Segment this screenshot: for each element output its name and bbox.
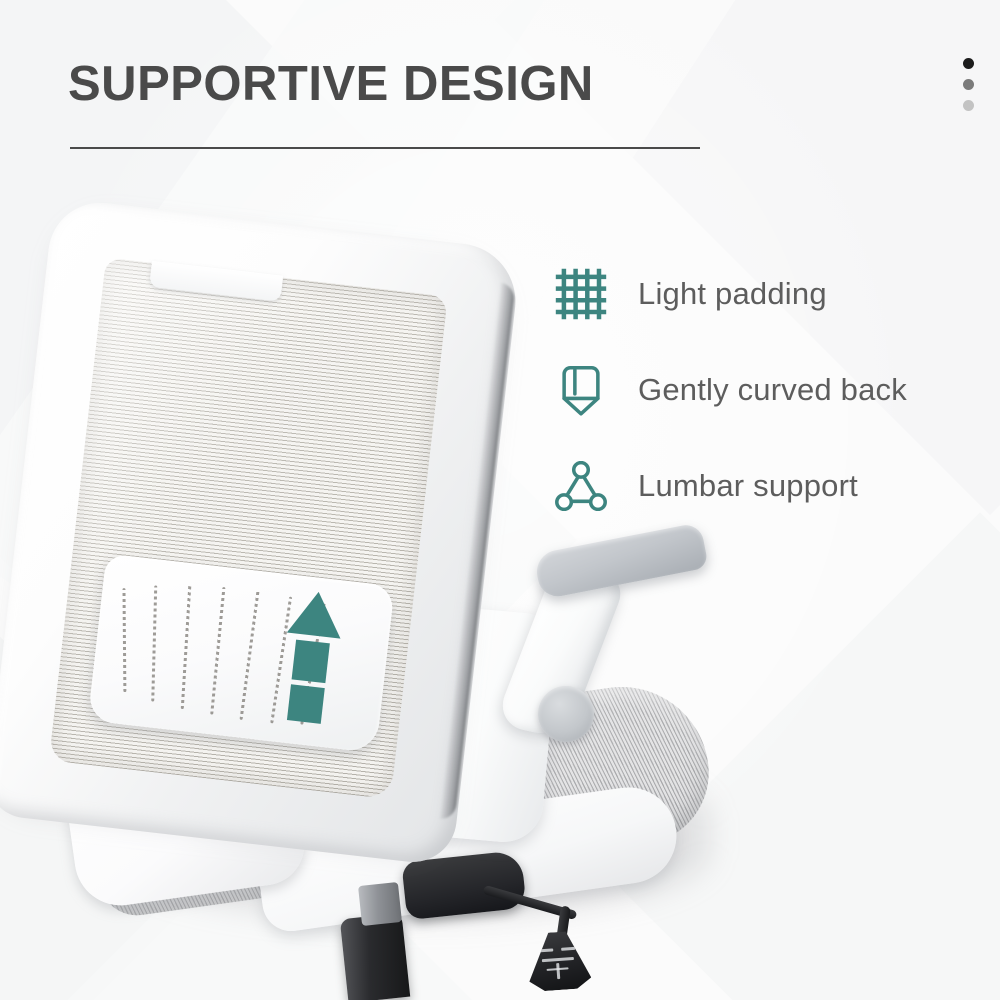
triangle-nodes-icon (548, 453, 614, 519)
feature-label: Light padding (638, 276, 827, 312)
vent-slot (122, 588, 126, 692)
feature-item-gently-curved-back: Gently curved back (548, 342, 907, 438)
armrest-pivot-hub[interactable] (538, 686, 594, 742)
vent-slot (210, 587, 225, 715)
vent-slot (181, 585, 192, 709)
lever-marking (556, 963, 560, 979)
pencil-icon (548, 357, 614, 423)
gas-lift-sleeve (358, 882, 402, 926)
vent-slot (151, 586, 157, 702)
lever-marking (542, 957, 574, 962)
vent-slot (240, 591, 260, 720)
lever-marking (561, 947, 575, 951)
product-feature-banner: SUPPORTIVE DESIGN (0, 0, 1000, 1000)
feature-item-light-padding: Light padding (548, 246, 907, 342)
gas-lift-cylinder (340, 913, 410, 1000)
lever-marking (539, 948, 553, 952)
chair-backrest (0, 197, 522, 866)
indicator-dot-2 (963, 79, 974, 90)
feature-label: Gently curved back (638, 372, 907, 408)
lumbar-support-panel (88, 554, 395, 754)
indicator-dot-3 (963, 100, 974, 111)
mesh-grid-icon (548, 261, 614, 327)
indicator-dot-1 (963, 58, 974, 69)
feature-item-lumbar-support: Lumbar support (548, 438, 907, 534)
page-title: SUPPORTIVE DESIGN (68, 56, 594, 112)
feature-list: Light padding Gently curved back (548, 246, 907, 534)
three-dot-indicator (963, 58, 974, 121)
title-divider (70, 147, 700, 149)
feature-label: Lumbar support (638, 468, 858, 504)
